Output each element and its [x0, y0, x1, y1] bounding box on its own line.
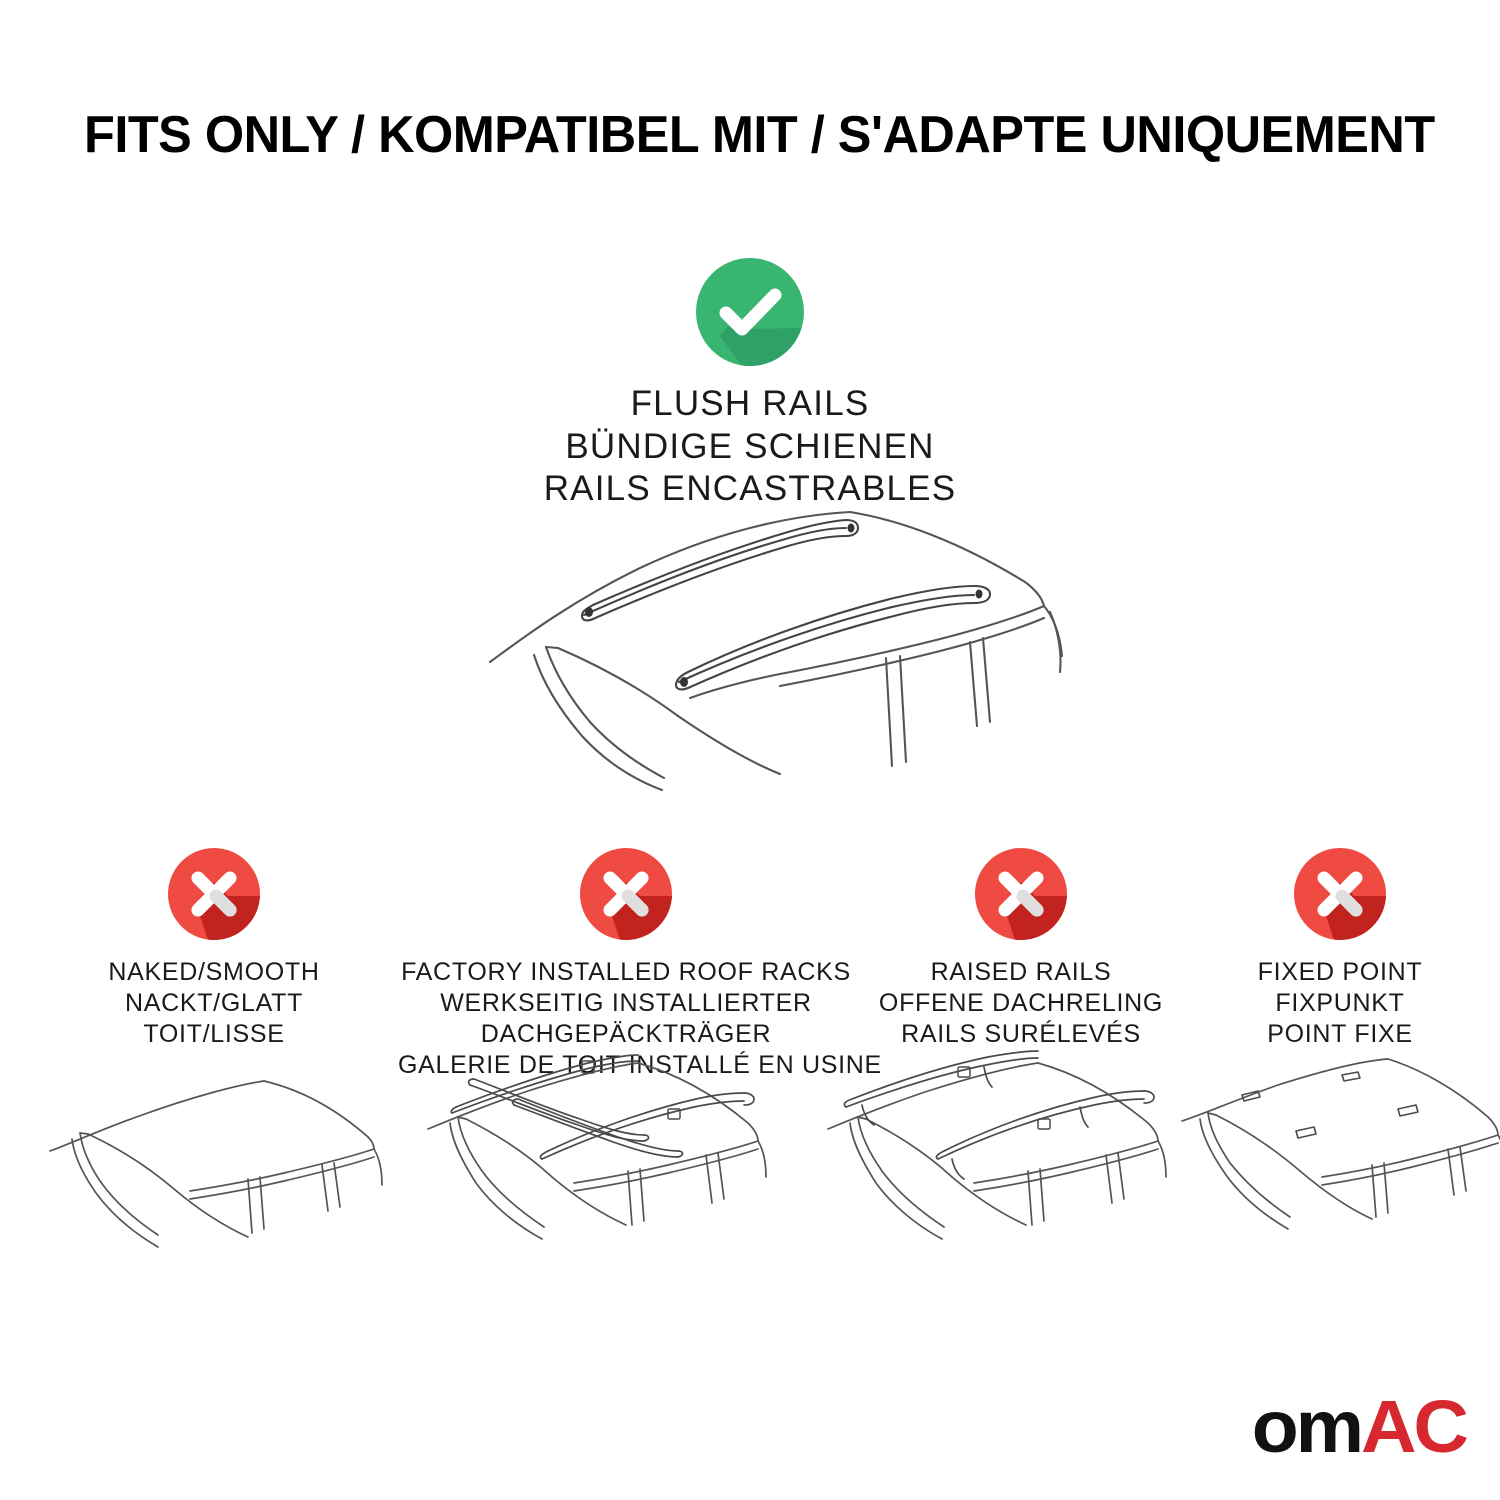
incompatible-caption: NAKED/SMOOTH NACKT/GLATT TOIT/LISSE	[28, 957, 400, 1050]
incompatible-item-factory-installed-roof-racks: FACTORY INSTALLED ROOF RACKS WERKSEITIG …	[398, 848, 854, 1081]
cross-circle-icon	[580, 848, 672, 940]
logo-dark-text: om	[1252, 1385, 1361, 1468]
incompatible-caption: FIXED POINT FIXPUNKT POINT FIXE	[1190, 957, 1490, 1050]
omac-logo: omAC	[1252, 1390, 1466, 1464]
car-roof-with-fixed-points-illustration	[1172, 1055, 1500, 1295]
infographic-page: FITS ONLY / KOMPATIBEL MIT / S'ADAPTE UN…	[0, 0, 1500, 1500]
car-roof-with-raised-rails-illustration	[812, 1055, 1194, 1295]
incompatible-item-fixed-point: FIXED POINT FIXPUNKT POINT FIXE	[1190, 848, 1490, 1050]
label-en: RAISED RAILS	[846, 957, 1196, 988]
page-title: FITS ONLY / KOMPATIBEL MIT / S'ADAPTE UN…	[84, 108, 1384, 163]
label-de-2: DACHGEPÄCKTRÄGER	[398, 1019, 854, 1050]
cross-circle-icon	[168, 848, 260, 940]
cross-circle-icon	[1294, 848, 1386, 940]
label-en: FACTORY INSTALLED ROOF RACKS	[398, 957, 854, 988]
compatible-section: FLUSH RAILS BÜNDIGE SCHIENEN RAILS ENCAS…	[0, 258, 1500, 511]
label-en: NAKED/SMOOTH	[28, 957, 400, 988]
compatible-label-de: BÜNDIGE SCHIENEN	[0, 426, 1500, 469]
label-fr: TOIT/LISSE	[28, 1019, 400, 1050]
cross-circle-icon	[975, 848, 1067, 940]
incompatible-caption: RAISED RAILS OFFENE DACHRELING RAILS SUR…	[846, 957, 1196, 1050]
car-roof-with-flush-rails-illustration	[450, 490, 1070, 790]
label-de: NACKT/GLATT	[28, 988, 400, 1019]
incompatible-item-raised-rails: RAISED RAILS OFFENE DACHRELING RAILS SUR…	[846, 848, 1196, 1050]
label-de: FIXPUNKT	[1190, 988, 1490, 1019]
label-fr: RAILS SURÉLEVÉS	[846, 1019, 1196, 1050]
car-roof-with-factory-racks-illustration	[412, 1055, 794, 1295]
label-en: FIXED POINT	[1190, 957, 1490, 988]
label-de-1: WERKSEITIG INSTALLIERTER	[398, 988, 854, 1019]
logo-red-text: AC	[1361, 1385, 1466, 1468]
label-fr: POINT FIXE	[1190, 1019, 1490, 1050]
incompatible-item-naked-smooth: NAKED/SMOOTH NACKT/GLATT TOIT/LISSE	[28, 848, 400, 1050]
compatible-label-en: FLUSH RAILS	[0, 383, 1500, 426]
car-roof-bare-illustration	[42, 1055, 382, 1295]
check-circle-icon	[696, 258, 804, 366]
label-de: OFFENE DACHRELING	[846, 988, 1196, 1019]
